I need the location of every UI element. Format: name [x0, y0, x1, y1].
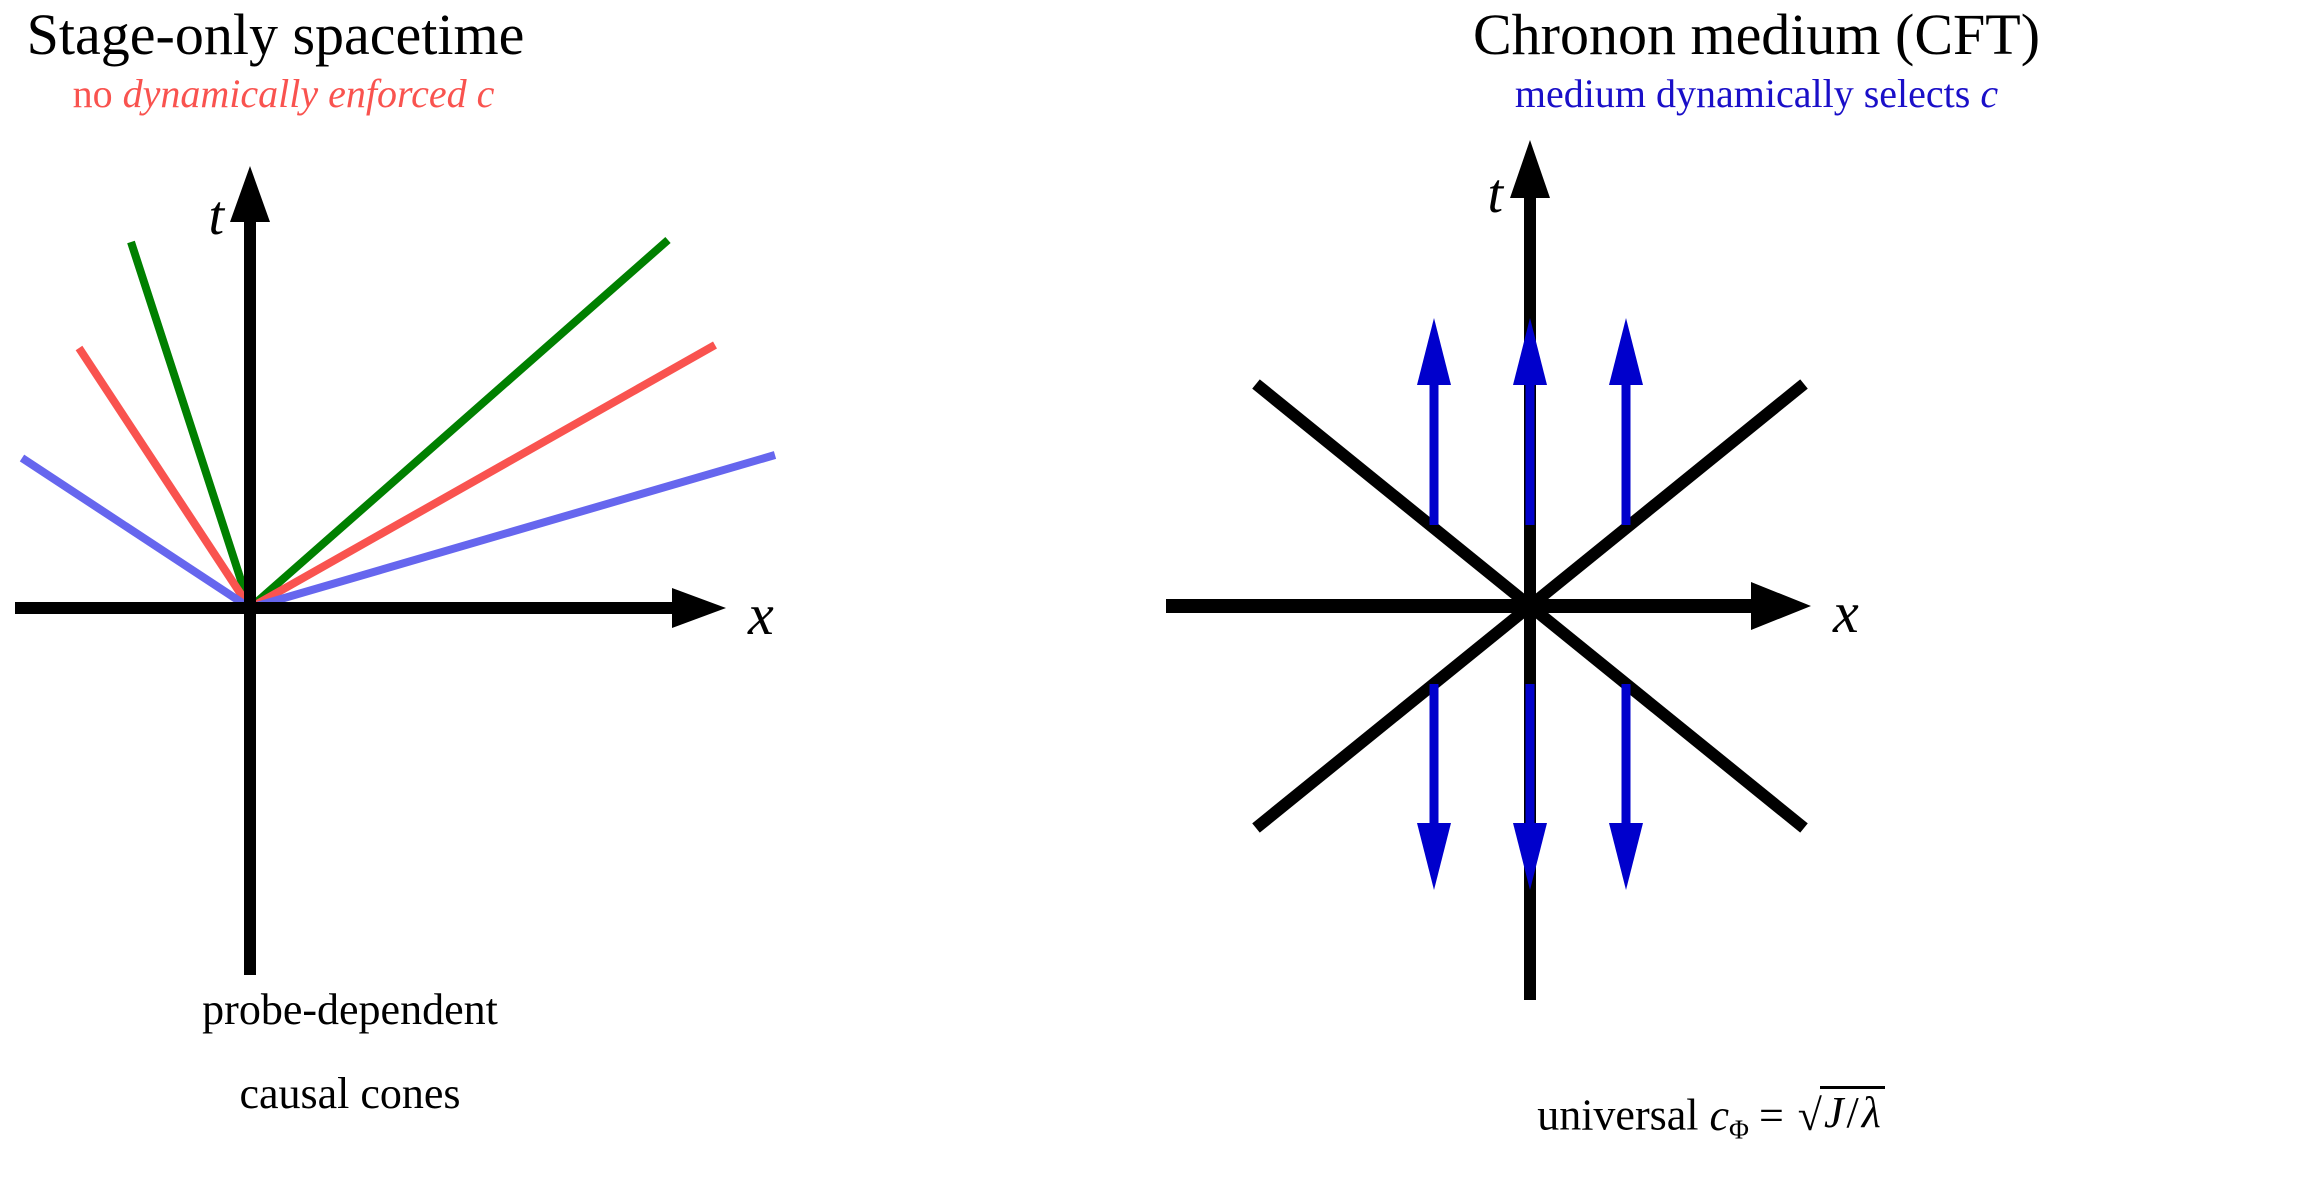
left-t-axis-label: t — [208, 185, 225, 247]
left-t-axis-arrowhead — [230, 166, 270, 222]
right-x-axis-label: x — [1832, 580, 1859, 645]
right-caption: universal cΦ=√J/λ — [1311, 1086, 2111, 1151]
blue-cone-left-ray — [22, 458, 250, 608]
right-caption-symbol: c — [1710, 1094, 1730, 1138]
red-cone-right-ray — [250, 345, 715, 608]
left-panel: Stage-only spacetime no dynamically enfo… — [0, 0, 1151, 1200]
radicand-denominator: λ — [1862, 1088, 1881, 1137]
radicand-numerator: J — [1824, 1088, 1844, 1137]
left-caption-line-1: probe-dependent — [0, 988, 700, 1032]
radicand: J/λ — [1820, 1086, 1885, 1135]
medium-arrow-up-right — [1609, 318, 1643, 525]
right-t-axis-label: t — [1487, 163, 1504, 225]
medium-arrow-up-center — [1513, 318, 1547, 525]
radicand-slash: / — [1843, 1088, 1861, 1137]
radical-sign: √ — [1798, 1094, 1822, 1138]
right-caption-equals: = — [1749, 1091, 1794, 1140]
right-t-axis-arrowhead — [1510, 140, 1550, 198]
medium-arrow-down-center — [1513, 684, 1547, 890]
red-cone-left-ray — [79, 348, 250, 608]
right-spacetime-diagram: t x — [1151, 0, 2302, 1200]
blue-cone-right-ray — [250, 455, 775, 608]
medium-arrow-down-right — [1609, 684, 1643, 890]
right-caption-subscript: Φ — [1729, 1114, 1749, 1144]
right-caption-prefix: universal — [1537, 1091, 1709, 1140]
left-x-axis-label: x — [747, 582, 774, 647]
green-cone-right-ray — [250, 240, 668, 608]
left-caption-line-2: causal cones — [0, 1072, 700, 1116]
right-panel: Chronon medium (CFT) medium dynamically … — [1151, 0, 2302, 1200]
medium-arrow-up-left — [1417, 318, 1451, 525]
medium-arrow-down-left — [1417, 684, 1451, 890]
left-x-axis-arrowhead — [672, 588, 726, 628]
green-cone-left-ray — [131, 242, 250, 608]
right-x-axis-arrowhead — [1751, 582, 1811, 630]
square-root-icon: √J/λ — [1794, 1086, 1885, 1138]
